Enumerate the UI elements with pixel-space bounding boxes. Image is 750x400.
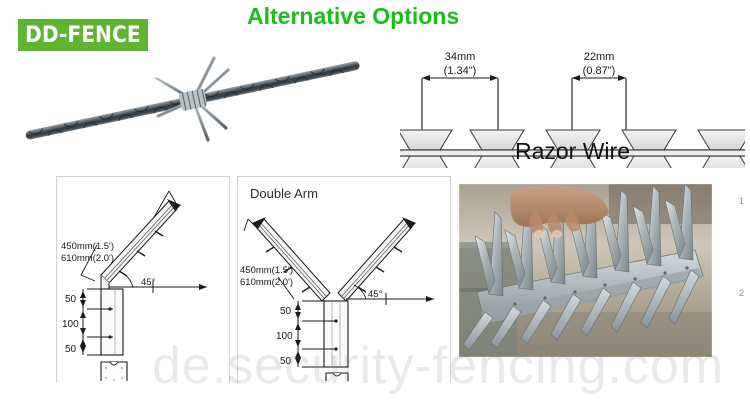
brand-logo: DD-FENCE — [18, 19, 148, 51]
edge-mark-2: 2 — [739, 288, 744, 298]
razor-dim-22mm-imperial: (0.87") — [583, 65, 616, 77]
double-arm-dim-top: 50 — [280, 306, 292, 317]
double-arm-title: Double Arm — [250, 186, 318, 201]
page-title: Alternative Options — [247, 3, 547, 30]
barbed-wire-block: Barbed Wire — [20, 48, 365, 168]
single-arm-panel: 50 100 50 450mm(1.5') 610mm(2.0') 45° — [56, 176, 230, 383]
single-arm-dim-mid: 100 — [62, 319, 79, 330]
razor-dim-34mm-metric: 34mm — [445, 51, 476, 63]
double-arm-panel: 50 100 50 450mm(1.5') 610mm(2.0') 45° — [237, 176, 451, 383]
double-arm-drawing: 50 100 50 450mm(1.5') 610mm(2.0') 45° — [238, 177, 448, 381]
razor-dim-34mm-imperial: (1.34") — [444, 65, 477, 77]
brand-logo-text: DD-FENCE — [25, 23, 141, 48]
single-arm-angle: 45° — [141, 277, 156, 288]
razor-dim-22mm-metric: 22mm — [584, 51, 615, 63]
single-arm-length-610: 610mm(2.0') — [61, 253, 114, 264]
double-arm-dim-bottom: 50 — [280, 356, 292, 367]
double-arm-length-450: 450mm(1.5') — [240, 265, 293, 276]
double-arm-angle: 45° — [368, 289, 383, 300]
edge-mark-1: 1 — [739, 196, 744, 206]
razor-wire-label: Razor Wire — [400, 138, 745, 165]
double-arm-dim-mid: 100 — [276, 331, 293, 342]
barbed-wire-photo — [20, 48, 365, 146]
single-arm-drawing: 50 100 50 450mm(1.5') 610mm(2.0') 45° — [57, 177, 227, 381]
single-arm-dim-top: 50 — [65, 294, 77, 305]
single-arm-dim-bottom: 50 — [65, 344, 77, 355]
double-arm-length-610: 610mm(2.0') — [240, 277, 293, 288]
product-spec-sheet: DD-FENCE Alternative Options — [0, 0, 750, 400]
single-arm-length-450: 450mm(1.5') — [61, 241, 114, 252]
wall-spikes-photo — [459, 184, 712, 357]
